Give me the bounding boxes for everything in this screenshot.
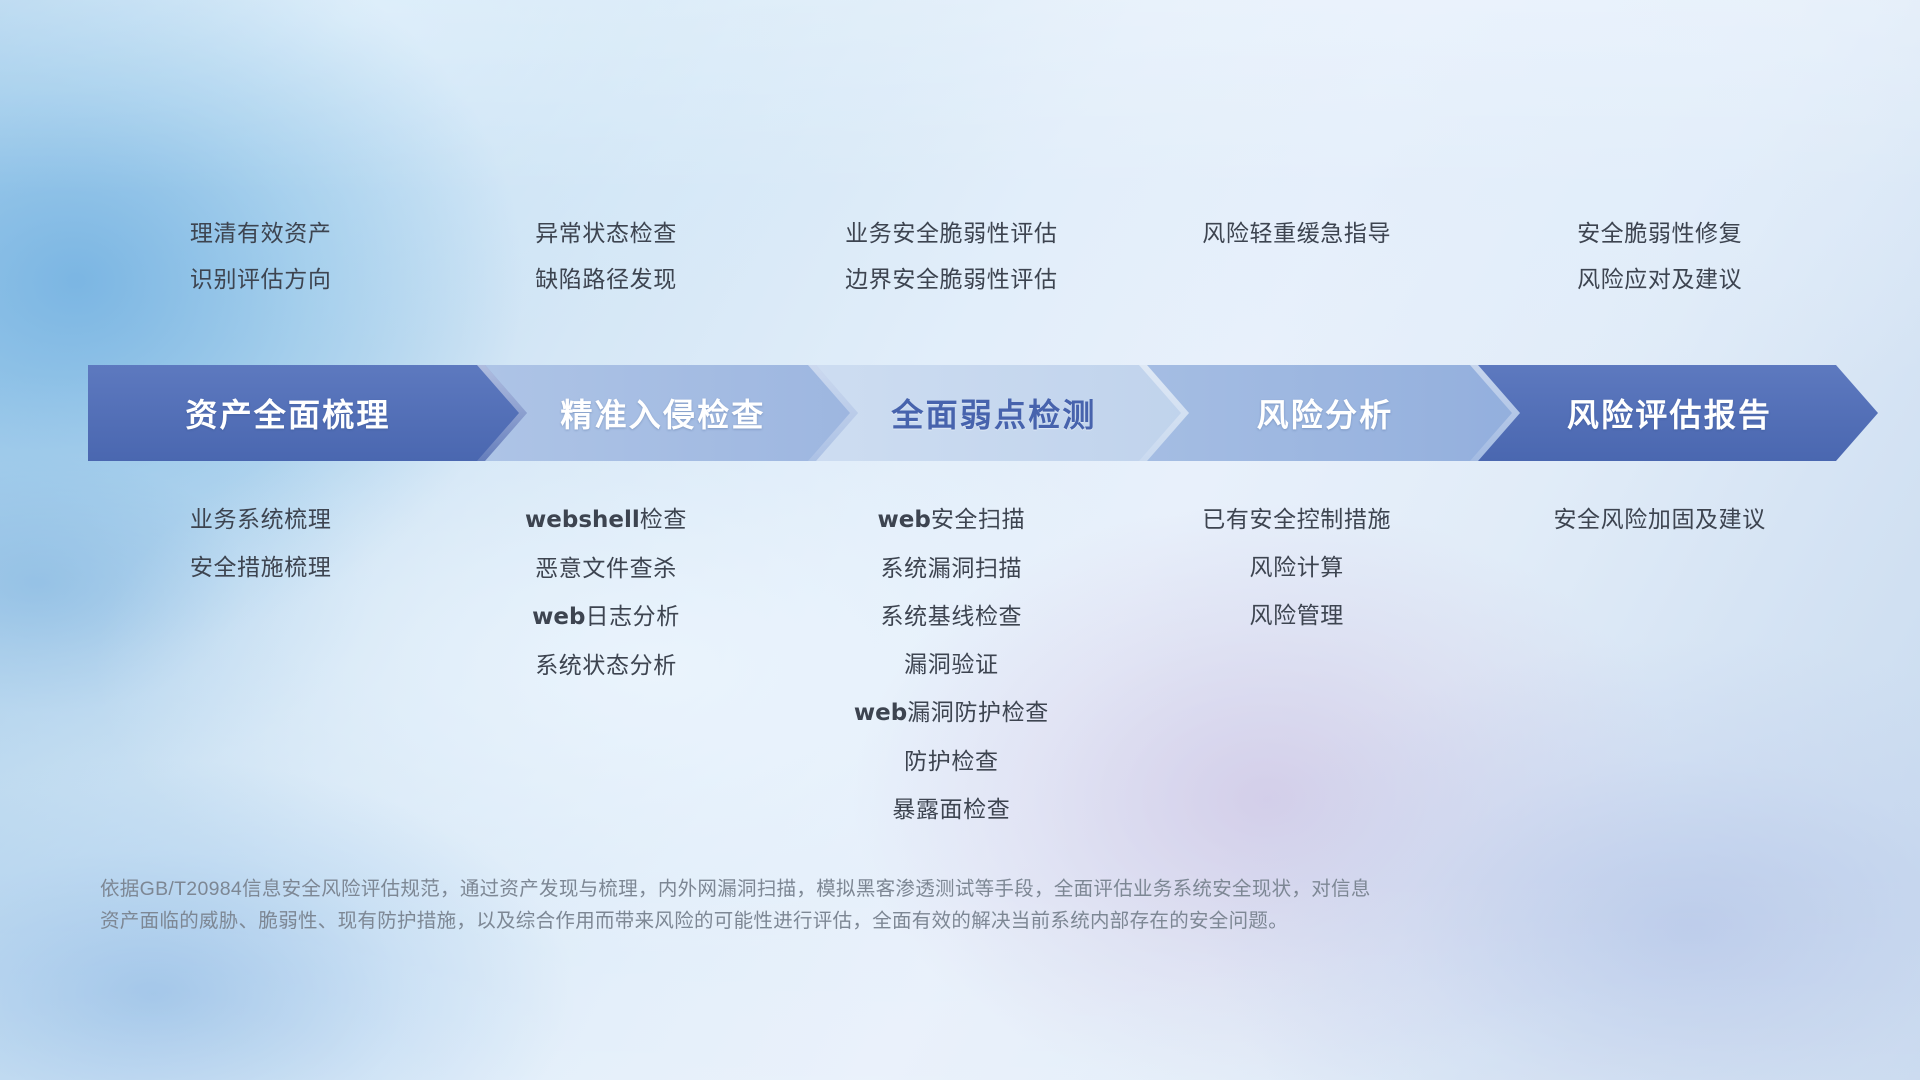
list-item: web日志分析	[532, 605, 680, 629]
bottom-column-4: 已有安全控制措施 风险计算 风险管理	[1124, 508, 1469, 821]
bottom-column-1: 业务系统梳理 安全措施梳理	[88, 508, 433, 821]
list-item-cn: 漏洞防护检查	[907, 699, 1049, 725]
top-item: 异常状态检查	[535, 222, 677, 245]
list-item-cn: 日志分析	[585, 603, 679, 629]
bottom-column-5: 安全风险加固及建议	[1469, 508, 1850, 821]
top-column-4: 风险轻重缓急指导	[1124, 222, 1469, 291]
top-column-1: 理清有效资产 识别评估方向	[88, 222, 433, 291]
footer-line-2: 资产面临的威胁、脆弱性、现有防护措施，以及综合作用而带来风险的可能性进行评估，全…	[100, 905, 1630, 937]
footer-line-1: 依据GB/T20984信息安全风险评估规范，通过资产发现与梳理，内外网漏洞扫描，…	[100, 873, 1630, 905]
banner-segment-1	[88, 365, 527, 461]
process-banner: 资产全面梳理 精准入侵检查 全面弱点检测 风险分析 风险评估报告	[88, 365, 1878, 461]
list-item: 漏洞验证	[904, 653, 998, 676]
list-item-cn: 安全扫描	[931, 506, 1025, 532]
list-item-en: webshell	[525, 507, 640, 533]
top-item: 风险轻重缓急指导	[1202, 222, 1391, 245]
list-item-en: web	[532, 604, 585, 630]
list-item: 恶意文件查杀	[535, 557, 677, 580]
list-item: 系统基线检查	[881, 605, 1023, 628]
bottom-column-2: webshell检查 恶意文件查杀 web日志分析 系统状态分析	[433, 508, 778, 821]
top-column-3: 业务安全脆弱性评估 边界安全脆弱性评估	[779, 222, 1124, 291]
list-item: 风险管理	[1250, 604, 1344, 627]
top-descriptor-row: 理清有效资产 识别评估方向 异常状态检查 缺陷路径发现 业务安全脆弱性评估 边界…	[88, 222, 1850, 291]
bottom-column-3: web安全扫描 系统漏洞扫描 系统基线检查 漏洞验证 web漏洞防护检查 防护检…	[779, 508, 1124, 821]
top-item: 安全脆弱性修复	[1577, 222, 1742, 245]
list-item: 系统状态分析	[535, 654, 677, 677]
list-item: 安全风险加固及建议	[1553, 508, 1765, 531]
top-item: 业务安全脆弱性评估	[845, 222, 1057, 245]
top-item: 理清有效资产	[190, 222, 332, 245]
list-item: 防护检查	[904, 750, 998, 773]
list-item: 风险计算	[1250, 556, 1344, 579]
top-item: 风险应对及建议	[1577, 268, 1742, 291]
list-item: 业务系统梳理	[190, 508, 332, 531]
top-item: 缺陷路径发现	[535, 268, 677, 291]
list-item: 已有安全控制措施	[1202, 508, 1391, 531]
top-column-2: 异常状态检查 缺陷路径发现	[433, 222, 778, 291]
top-item: 识别评估方向	[190, 268, 332, 291]
list-item: 系统漏洞扫描	[881, 557, 1023, 580]
list-item-cn: 检查	[640, 506, 687, 532]
footer-description: 依据GB/T20984信息安全风险评估规范，通过资产发现与梳理，内外网漏洞扫描，…	[100, 873, 1630, 937]
top-item: 边界安全脆弱性评估	[845, 268, 1057, 291]
list-item: webshell检查	[525, 508, 687, 532]
list-item-en: web	[854, 700, 907, 726]
banner-shapes	[88, 365, 1878, 461]
list-item: web漏洞防护检查	[854, 701, 1049, 725]
list-item-en: web	[878, 507, 931, 533]
top-column-5: 安全脆弱性修复 风险应对及建议	[1469, 222, 1850, 291]
list-item: 暴露面检查	[892, 798, 1010, 821]
list-item: web安全扫描	[878, 508, 1026, 532]
list-item: 安全措施梳理	[190, 556, 332, 579]
bottom-descriptor-row: 业务系统梳理 安全措施梳理 webshell检查 恶意文件查杀 web日志分析 …	[88, 508, 1850, 821]
infographic-canvas: 理清有效资产 识别评估方向 异常状态检查 缺陷路径发现 业务安全脆弱性评估 边界…	[0, 0, 1920, 1080]
